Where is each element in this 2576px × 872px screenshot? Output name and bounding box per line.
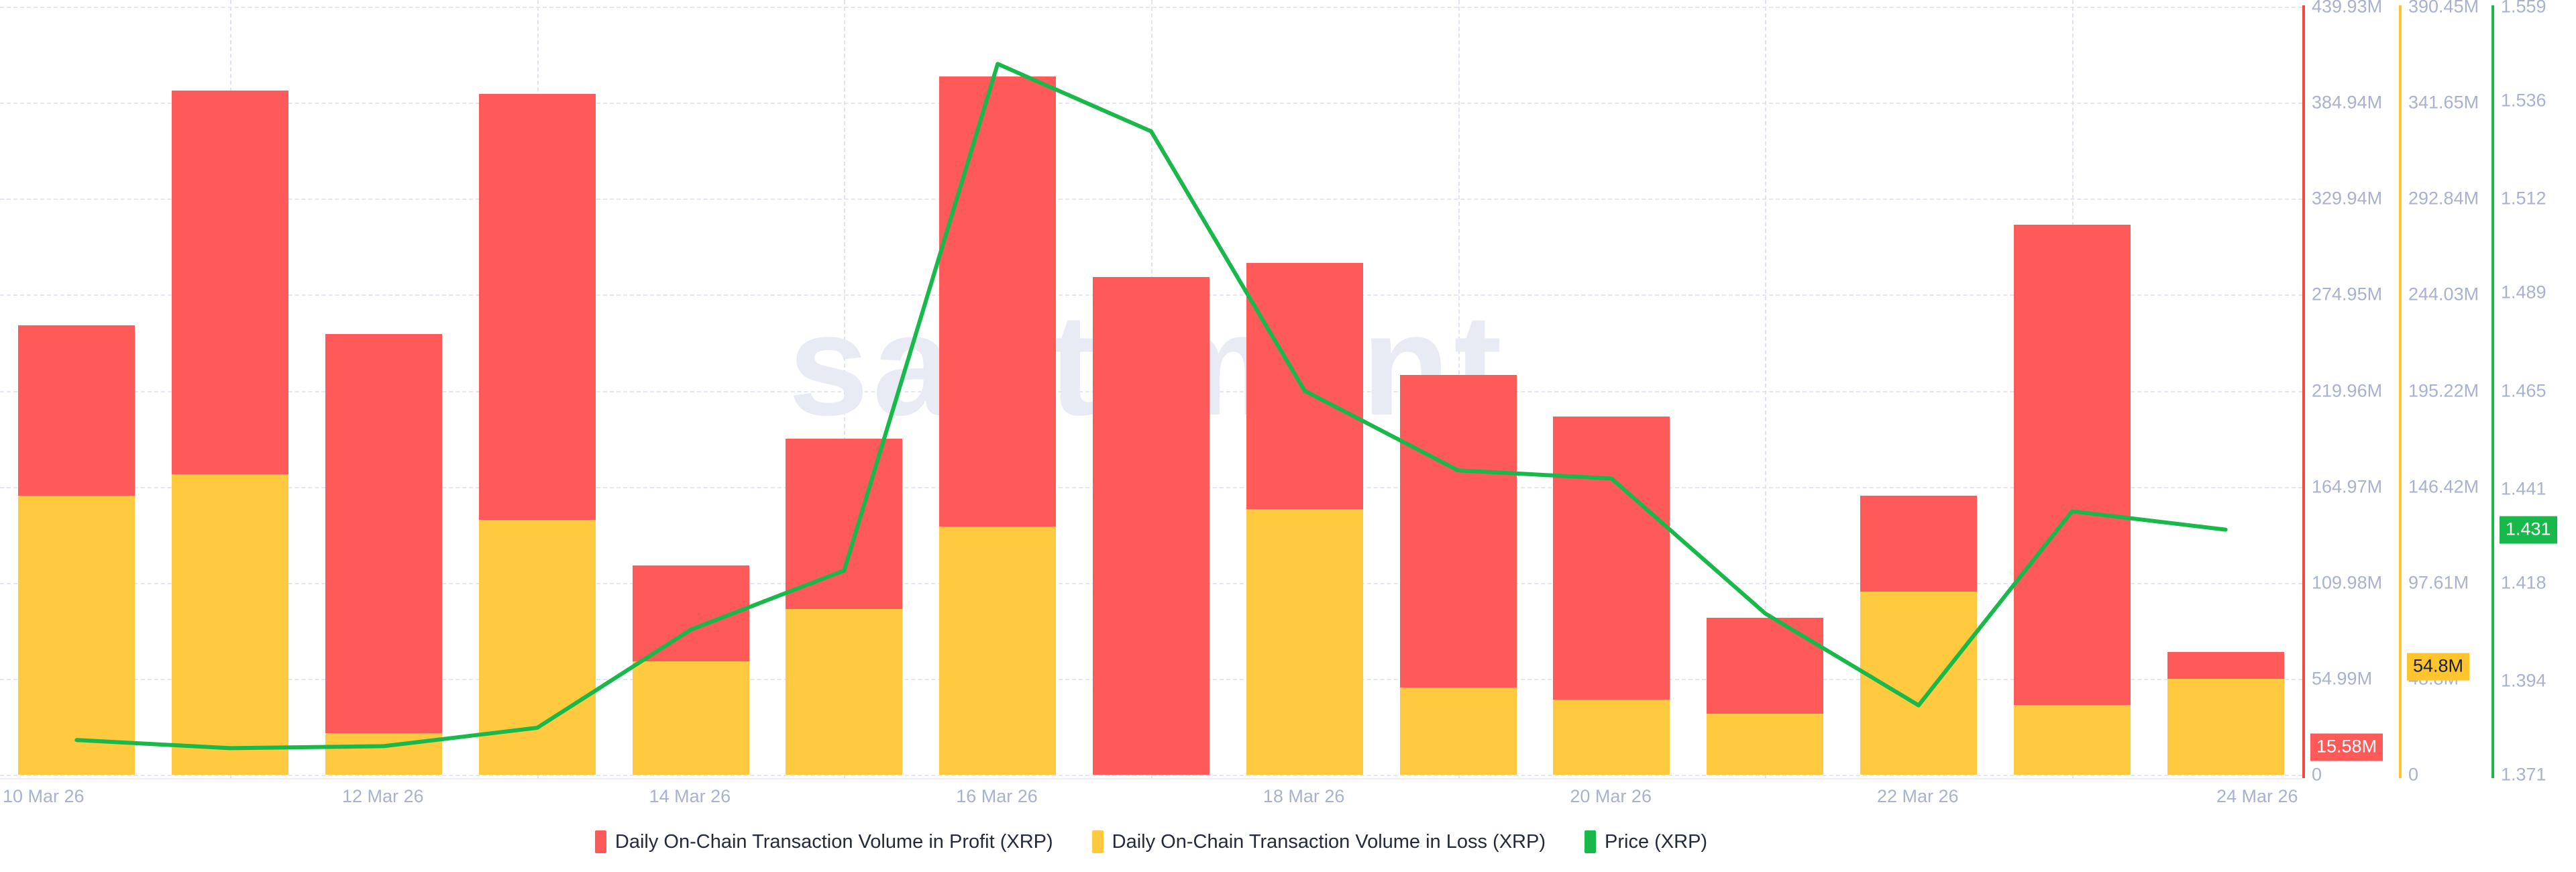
- axis-tick-label: 1.441: [2501, 478, 2546, 499]
- bar-group[interactable]: [2014, 225, 2131, 775]
- y-axis-price-rule: [2491, 5, 2494, 778]
- x-axis-tick-label: 24 Mar 26: [2216, 786, 2298, 807]
- bar-group[interactable]: [633, 565, 749, 775]
- axis-tick-label: 1.536: [2501, 91, 2546, 111]
- plot-area[interactable]: santiment: [0, 0, 2302, 778]
- bar-group[interactable]: [479, 94, 596, 775]
- legend-item[interactable]: Daily On-Chain Transaction Volume in Pro…: [595, 830, 1053, 853]
- x-axis-tick-label: 14 Mar 26: [649, 786, 731, 807]
- x-axis-tick-label: 20 Mar 26: [1570, 786, 1652, 807]
- bar-group[interactable]: [18, 325, 135, 775]
- legend-label: Daily On-Chain Transaction Volume in Los…: [1112, 831, 1546, 853]
- axis-tick-label: 195.22M: [2408, 380, 2479, 401]
- x-axis-line: [0, 778, 2302, 779]
- bar-segment-profit[interactable]: [786, 439, 902, 609]
- bar-segment-loss[interactable]: [2167, 679, 2284, 775]
- bar-segment-loss[interactable]: [172, 474, 288, 775]
- bar-segment-profit[interactable]: [1860, 496, 1977, 592]
- bar-segment-loss[interactable]: [1246, 509, 1363, 775]
- bar-segment-profit[interactable]: [1707, 618, 1823, 714]
- x-axis-tick-label: 18 Mar 26: [1263, 786, 1345, 807]
- bar-segment-profit[interactable]: [18, 325, 135, 496]
- axis-value-badge: 54.8M: [2407, 653, 2469, 681]
- bar-segment-profit[interactable]: [2014, 225, 2131, 704]
- legend-item[interactable]: Daily On-Chain Transaction Volume in Los…: [1092, 830, 1546, 853]
- axis-tick-label: 164.97M: [2312, 476, 2382, 497]
- axis-tick-label: 384.94M: [2312, 93, 2382, 113]
- bar-segment-profit[interactable]: [172, 91, 288, 474]
- legend-label: Price (XRP): [1605, 831, 1707, 853]
- axis-tick-label: 274.95M: [2312, 284, 2382, 305]
- axis-tick-label: 97.61M: [2408, 572, 2469, 593]
- bar-segment-profit[interactable]: [2167, 652, 2284, 679]
- bar-segment-profit[interactable]: [633, 565, 749, 661]
- y-axis-loss-rule: [2399, 5, 2402, 778]
- bar-segment-loss[interactable]: [479, 520, 596, 775]
- legend-swatch-icon: [1092, 830, 1104, 853]
- bar-group[interactable]: [1553, 417, 1670, 775]
- axis-tick-label: 1.465: [2501, 380, 2546, 401]
- y-axis-profit-rule: [2302, 5, 2305, 778]
- axis-tick-label: 0: [2408, 765, 2418, 785]
- bar-series-layer: [0, 0, 2302, 778]
- bar-segment-profit[interactable]: [1400, 375, 1517, 688]
- axis-tick-label: 329.94M: [2312, 188, 2382, 209]
- bar-group[interactable]: [786, 439, 902, 775]
- axis-tick-label: 439.93M: [2312, 0, 2382, 17]
- axis-value-badge: 1.431: [2500, 516, 2557, 543]
- x-axis-tick-label: 22 Mar 26: [1877, 786, 1959, 807]
- bar-group[interactable]: [1400, 375, 1517, 775]
- axis-tick-label: 244.03M: [2408, 284, 2479, 305]
- axis-tick-label: 146.42M: [2408, 476, 2479, 497]
- legend-item[interactable]: Price (XRP): [1585, 830, 1707, 853]
- bar-segment-loss[interactable]: [1860, 592, 1977, 775]
- axis-value-badge: 15.58M: [2310, 734, 2383, 761]
- legend-label: Daily On-Chain Transaction Volume in Pro…: [615, 831, 1053, 853]
- axis-tick-label: 1.394: [2501, 670, 2546, 691]
- bar-segment-profit[interactable]: [939, 76, 1056, 527]
- bar-group[interactable]: [2167, 652, 2284, 775]
- bar-segment-loss[interactable]: [2014, 705, 2131, 775]
- bar-group[interactable]: [1707, 618, 1823, 775]
- x-axis-tick-label: 10 Mar 26: [3, 786, 85, 807]
- axis-tick-label: 1.489: [2501, 282, 2546, 303]
- axis-tick-label: 292.84M: [2408, 188, 2479, 209]
- bar-segment-profit[interactable]: [1093, 277, 1210, 775]
- axis-tick-label: 0: [2312, 765, 2322, 785]
- axis-tick-label: 1.371: [2501, 765, 2546, 785]
- chart-legend: Daily On-Chain Transaction Volume in Pro…: [0, 830, 2302, 853]
- bar-segment-loss[interactable]: [939, 527, 1056, 775]
- bar-group[interactable]: [1860, 496, 1977, 775]
- bar-segment-profit[interactable]: [325, 334, 442, 732]
- bar-group[interactable]: [172, 91, 288, 775]
- axis-tick-label: 1.512: [2501, 188, 2546, 209]
- axis-tick-label: 390.45M: [2408, 0, 2479, 17]
- bar-group[interactable]: [1246, 263, 1363, 775]
- legend-swatch-icon: [595, 830, 606, 853]
- bar-segment-loss[interactable]: [786, 609, 902, 775]
- bar-segment-profit[interactable]: [1553, 417, 1670, 700]
- chart-root: santiment 10 Mar 2612 Mar 2614 Mar 2616 …: [0, 0, 2576, 872]
- bar-segment-profit[interactable]: [479, 94, 596, 520]
- bar-group[interactable]: [1093, 277, 1210, 775]
- bar-group[interactable]: [325, 334, 442, 775]
- x-axis-tick-label: 12 Mar 26: [342, 786, 424, 807]
- bar-segment-loss[interactable]: [1553, 700, 1670, 775]
- bar-segment-loss[interactable]: [18, 496, 135, 775]
- legend-swatch-icon: [1585, 830, 1596, 853]
- x-axis-tick-label: 16 Mar 26: [956, 786, 1038, 807]
- bar-segment-loss[interactable]: [633, 661, 749, 775]
- axis-tick-label: 1.418: [2501, 572, 2546, 593]
- bar-segment-loss[interactable]: [325, 733, 442, 775]
- bar-segment-profit[interactable]: [1246, 263, 1363, 509]
- bar-segment-loss[interactable]: [1400, 688, 1517, 775]
- bar-segment-loss[interactable]: [1707, 714, 1823, 775]
- axis-tick-label: 54.99M: [2312, 668, 2372, 689]
- axis-tick-label: 219.96M: [2312, 380, 2382, 401]
- axis-tick-label: 109.98M: [2312, 572, 2382, 593]
- axis-tick-label: 1.559: [2501, 0, 2546, 17]
- axis-tick-label: 341.65M: [2408, 93, 2479, 113]
- bar-group[interactable]: [939, 76, 1056, 775]
